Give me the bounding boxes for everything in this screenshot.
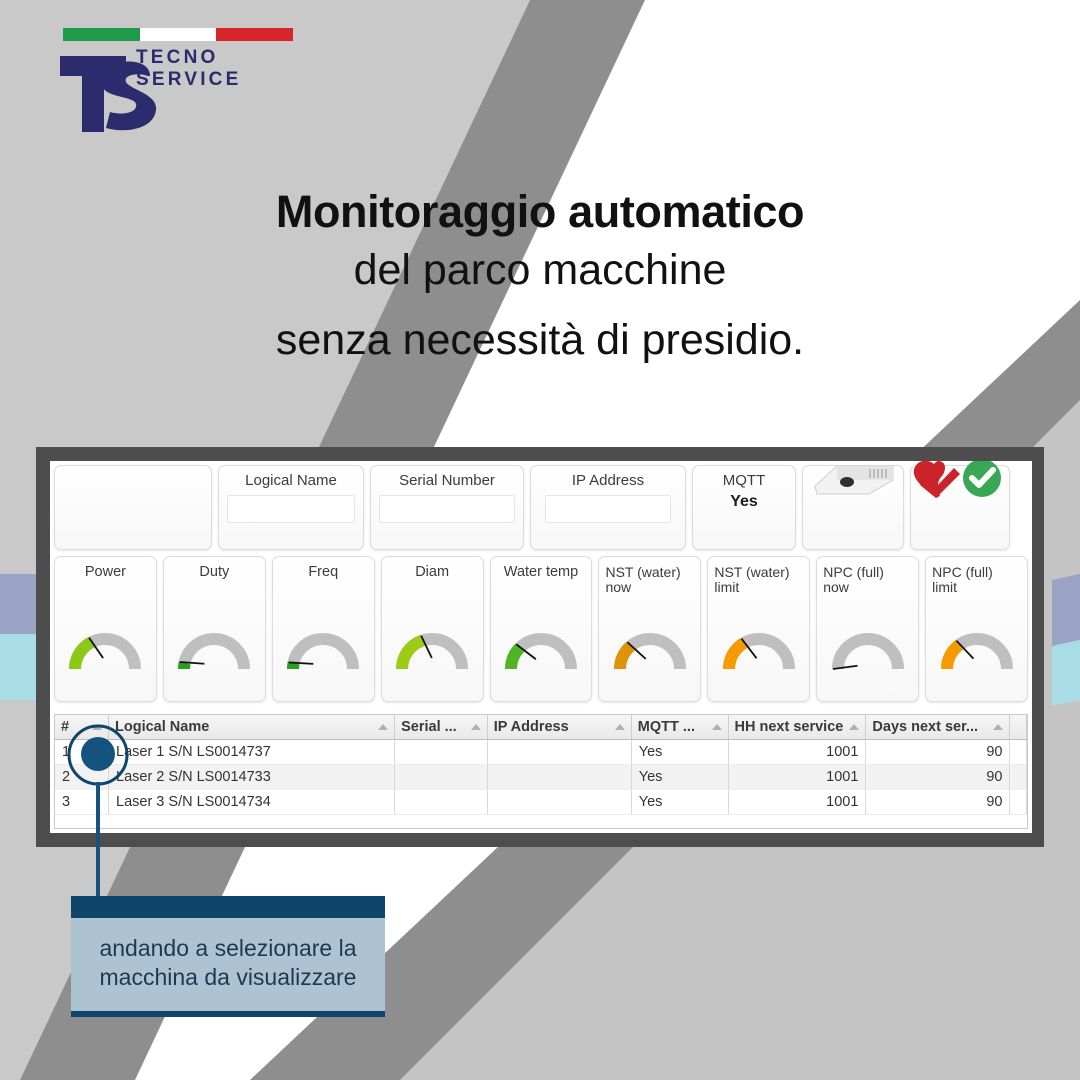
table-header-row: #Logical NameSerial ...IP AddressMQTT ..…: [55, 715, 1027, 740]
gauge-card[interactable]: NST (water) limit: [707, 556, 810, 702]
gauge-dial: [599, 621, 700, 695]
days-next-service-cell: 90: [866, 740, 1010, 765]
days-next-service-cell: 90: [866, 765, 1010, 790]
mqtt-cell: Yes: [631, 765, 728, 790]
row-end-spacer: [1010, 740, 1027, 765]
info-card-device-photo[interactable]: [802, 465, 904, 550]
italian-flag-icon: [63, 28, 293, 41]
table-column-header[interactable]: Serial ...: [395, 715, 488, 740]
info-card-serial-number[interactable]: Serial Number: [370, 465, 524, 550]
gauge-dial: [55, 621, 156, 695]
gauge-dial: [491, 621, 592, 695]
sort-ascending-icon[interactable]: [849, 724, 859, 730]
table-column-label: IP Address: [494, 719, 569, 735]
logical-name-cell: Laser 2 S/N LS0014733: [109, 765, 395, 790]
gauge-card[interactable]: Power: [54, 556, 157, 702]
sort-ascending-icon[interactable]: [712, 724, 722, 730]
table-column-header[interactable]: HH next service: [728, 715, 866, 740]
table-body: 1Laser 1 S/N LS0014737Yes1001902Laser 2 …: [55, 740, 1027, 815]
headline-line-2: del parco macchine: [0, 246, 1080, 296]
row-number: 1: [55, 740, 109, 765]
gauge-title: Water temp: [491, 557, 592, 581]
gauge-dial: [164, 621, 265, 695]
gauge-card[interactable]: Water temp: [490, 556, 593, 702]
row-end-spacer: [1010, 765, 1027, 790]
table-column-header[interactable]: IP Address: [487, 715, 631, 740]
info-card-mqtt[interactable]: MQTT Yes: [692, 465, 796, 550]
gauge-title: Duty: [164, 557, 265, 581]
sort-ascending-icon[interactable]: [92, 724, 102, 730]
status-icons-group: [912, 461, 1008, 504]
sort-ascending-icon[interactable]: [993, 724, 1003, 730]
table-row[interactable]: 1Laser 1 S/N LS0014737Yes100190: [55, 740, 1027, 765]
table-column-header[interactable]: Days next ser...: [866, 715, 1010, 740]
gauge-card[interactable]: Duty: [163, 556, 266, 702]
table-scrollbar-column[interactable]: [1010, 715, 1027, 740]
table-column-header[interactable]: Logical Name: [109, 715, 395, 740]
gauge-title: Freq: [273, 557, 374, 581]
gauge-title: Power: [55, 557, 156, 581]
serial-cell: [395, 740, 488, 765]
info-card-label: Serial Number: [371, 466, 523, 490]
gauge-card[interactable]: NPC (full) limit: [925, 556, 1028, 702]
table-column-label: #: [61, 719, 69, 735]
gauge-dial: [708, 621, 809, 695]
sort-ascending-icon[interactable]: [615, 724, 625, 730]
hh-next-service-cell: 1001: [728, 765, 866, 790]
ip-address-cell: [487, 740, 631, 765]
gauge-card[interactable]: NPC (full) now: [816, 556, 919, 702]
brand-name: TECNO SERVICE: [136, 47, 288, 91]
table-row[interactable]: 2Laser 2 S/N LS0014733Yes100190: [55, 765, 1027, 790]
gauge-card[interactable]: NST (water) now: [598, 556, 701, 702]
callout-box: andando a selezionare la macchina da vis…: [71, 896, 385, 1017]
logical-name-input[interactable]: [227, 495, 356, 523]
sort-ascending-icon[interactable]: [378, 724, 388, 730]
row-end-spacer: [1010, 790, 1027, 815]
info-card-status-icons[interactable]: [910, 465, 1010, 550]
brand-logo: TECNO SERVICE: [48, 28, 288, 133]
mqtt-cell: Yes: [631, 740, 728, 765]
table-column-label: MQTT ...: [638, 719, 695, 735]
gauge-dial: [926, 621, 1027, 695]
row-number: 2: [55, 765, 109, 790]
table-row[interactable]: 3Laser 3 S/N LS0014734Yes100190: [55, 790, 1027, 815]
ip-address-cell: [487, 790, 631, 815]
gauge-title: NPC (full) now: [817, 557, 918, 596]
serial-number-input[interactable]: [379, 495, 515, 523]
days-next-service-cell: 90: [866, 790, 1010, 815]
serial-cell: [395, 765, 488, 790]
dashboard-frame: Logical Name Serial Number IP Address MQ…: [36, 447, 1044, 847]
table-column-header[interactable]: MQTT ...: [631, 715, 728, 740]
poster-canvas: TECNO SERVICE Monitoraggio automatico de…: [0, 0, 1080, 1080]
row-number: 3: [55, 790, 109, 815]
hh-next-service-cell: 1001: [728, 740, 866, 765]
headline-line-1: Monitoraggio automatico: [0, 186, 1080, 238]
info-card-label: MQTT: [693, 466, 795, 490]
headline-line-3: senza necessità di presidio.: [0, 316, 1080, 366]
gauge-title: Diam: [382, 557, 483, 581]
machines-table-wrapper[interactable]: #Logical NameSerial ...IP AddressMQTT ..…: [54, 714, 1028, 829]
table-column-label: Days next ser...: [872, 719, 978, 735]
table-column-header[interactable]: #: [55, 715, 109, 740]
table-column-label: Logical Name: [115, 719, 209, 735]
mqtt-value: Yes: [693, 493, 795, 511]
gauge-dial: [817, 621, 918, 695]
info-card-row: Logical Name Serial Number IP Address MQ…: [50, 461, 1032, 550]
mqtt-cell: Yes: [631, 790, 728, 815]
machines-table: #Logical NameSerial ...IP AddressMQTT ..…: [55, 715, 1027, 815]
callout-text: andando a selezionare la macchina da vis…: [99, 935, 356, 990]
gauge-card[interactable]: Freq: [272, 556, 375, 702]
gauge-card-row: PowerDutyFreqDiamWater tempNST (water) n…: [50, 550, 1032, 702]
info-card-label: Logical Name: [219, 466, 363, 490]
gauge-title: NPC (full) limit: [926, 557, 1027, 596]
gauge-dial: [273, 621, 374, 695]
ip-address-cell: [487, 765, 631, 790]
serial-cell: [395, 790, 488, 815]
logical-name-cell: Laser 1 S/N LS0014737: [109, 740, 395, 765]
logical-name-cell: Laser 3 S/N LS0014734: [109, 790, 395, 815]
info-card-blank[interactable]: [54, 465, 212, 550]
ip-address-input[interactable]: [545, 495, 670, 523]
hh-next-service-cell: 1001: [728, 790, 866, 815]
gauge-dial: [382, 621, 483, 695]
info-card-label: IP Address: [531, 466, 685, 490]
table-column-label: Serial ...: [401, 719, 457, 735]
sort-ascending-icon[interactable]: [471, 724, 481, 730]
info-card-ip-address[interactable]: IP Address: [530, 465, 686, 550]
gauge-title: NST (water) now: [599, 557, 700, 596]
dashboard-content: Logical Name Serial Number IP Address MQ…: [50, 461, 1032, 833]
gauge-title: NST (water) limit: [708, 557, 809, 596]
laser-device-photo-icon: [807, 461, 899, 500]
info-card-logical-name[interactable]: Logical Name: [218, 465, 364, 550]
table-column-label: HH next service: [735, 719, 844, 735]
gauge-card[interactable]: Diam: [381, 556, 484, 702]
page-title: Monitoraggio automatico del parco macchi…: [0, 186, 1080, 366]
